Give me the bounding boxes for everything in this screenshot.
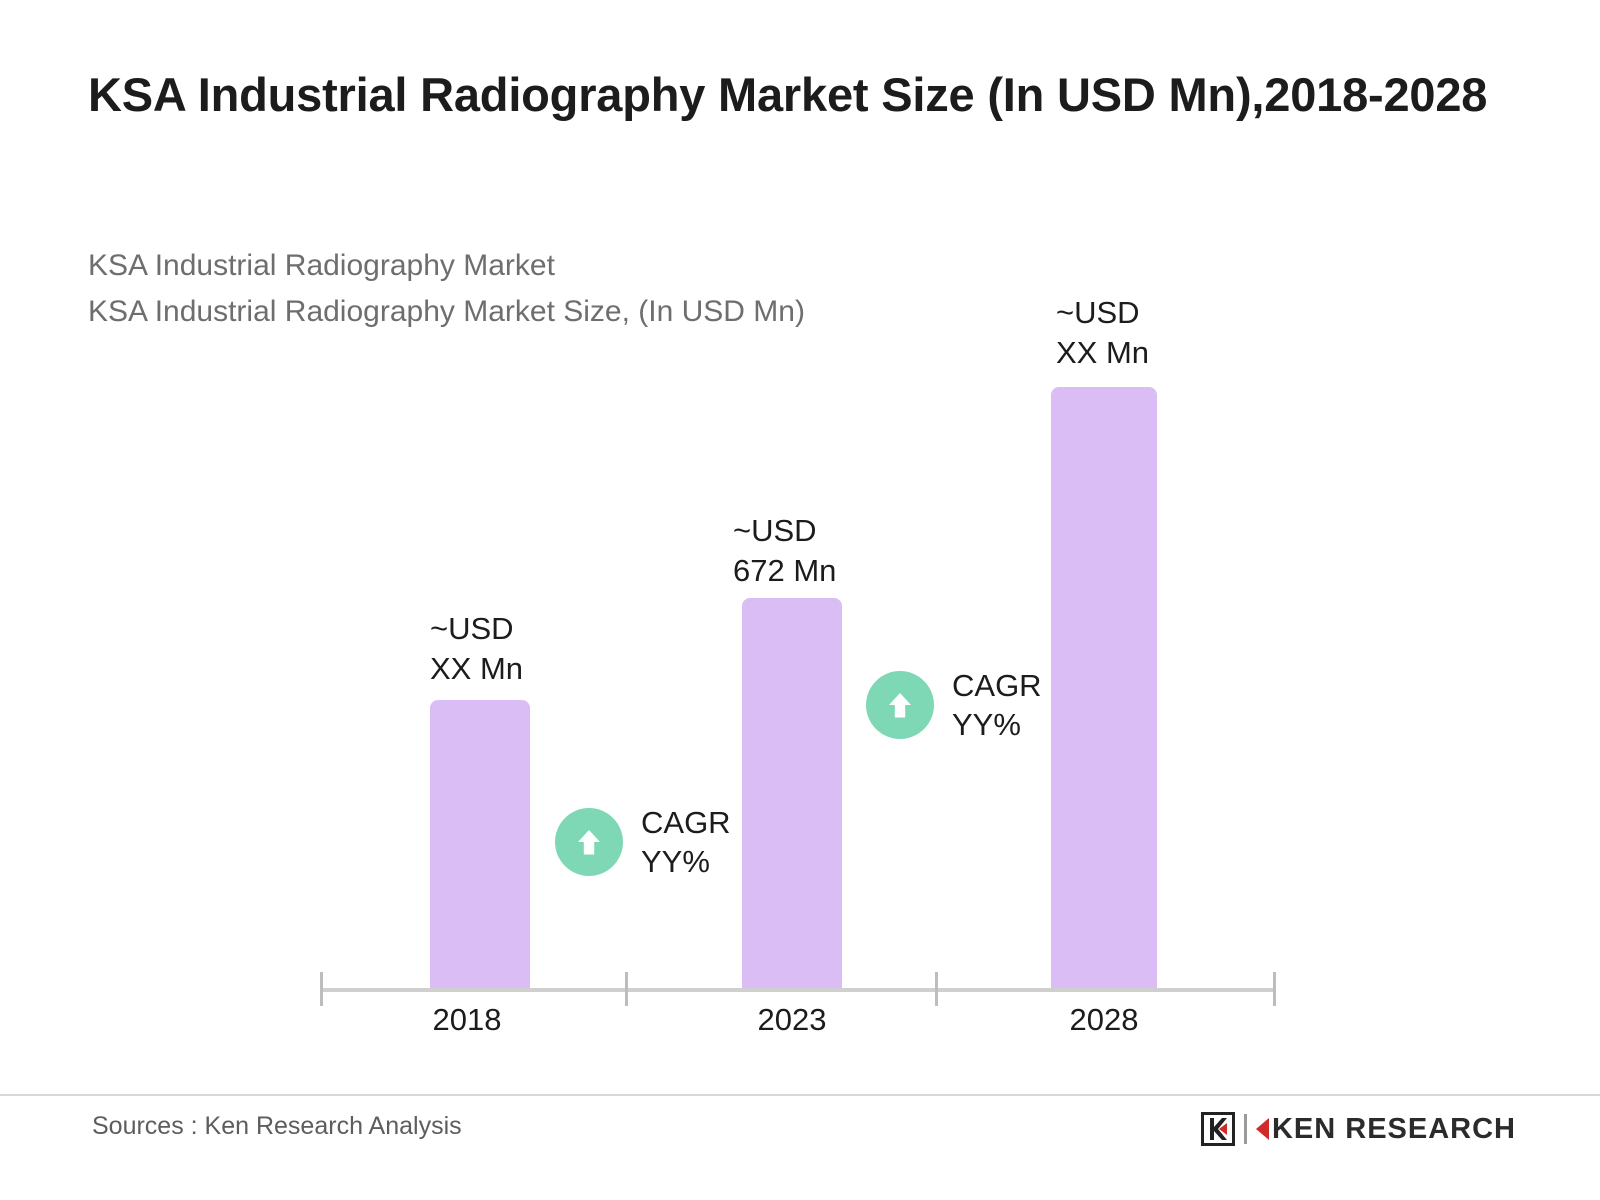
axis-tick-end	[1273, 972, 1276, 1006]
bar-chart: ~USD XX Mn ~USD 672 Mn ~USD XX Mn CAGR Y…	[0, 0, 1600, 1200]
axis-tick-2	[935, 972, 938, 1006]
bar-value-label-2018: ~USD XX Mn	[430, 609, 523, 688]
cagr-badge-1[interactable]: CAGR YY%	[555, 803, 731, 882]
footer-divider	[0, 1094, 1600, 1096]
x-axis-line	[320, 988, 1276, 992]
x-tick-label-2023: 2023	[692, 1002, 892, 1038]
logo-wordmark-text: KEN RESEARCH	[1272, 1113, 1516, 1146]
logo-wordmark: KEN RESEARCH	[1256, 1113, 1516, 1146]
axis-tick-start	[320, 972, 323, 1006]
cagr-label-1: CAGR YY%	[641, 803, 731, 882]
bar-value-label-2023: ~USD 672 Mn	[733, 511, 836, 590]
arrow-up-icon	[555, 808, 623, 876]
arrow-up-icon	[866, 671, 934, 739]
bar-2023[interactable]	[742, 598, 842, 990]
bar-2018[interactable]	[430, 700, 530, 990]
x-tick-label-2018: 2018	[367, 1002, 567, 1038]
cagr-badge-2[interactable]: CAGR YY%	[866, 666, 1042, 745]
source-note: Sources : Ken Research Analysis	[92, 1112, 462, 1141]
x-tick-label-2028: 2028	[1004, 1002, 1204, 1038]
axis-tick-1	[625, 972, 628, 1006]
bar-value-label-2028: ~USD XX Mn	[1056, 293, 1149, 372]
bar-2028[interactable]	[1051, 387, 1157, 990]
slide-canvas: KSA Industrial Radiography Market Size (…	[0, 0, 1600, 1200]
logo-divider	[1244, 1114, 1247, 1144]
logo-arrow-icon	[1256, 1118, 1269, 1140]
ken-logo-mark-icon	[1201, 1112, 1235, 1146]
cagr-label-2: CAGR YY%	[952, 666, 1042, 745]
ken-research-logo: KEN RESEARCH	[1201, 1112, 1516, 1146]
